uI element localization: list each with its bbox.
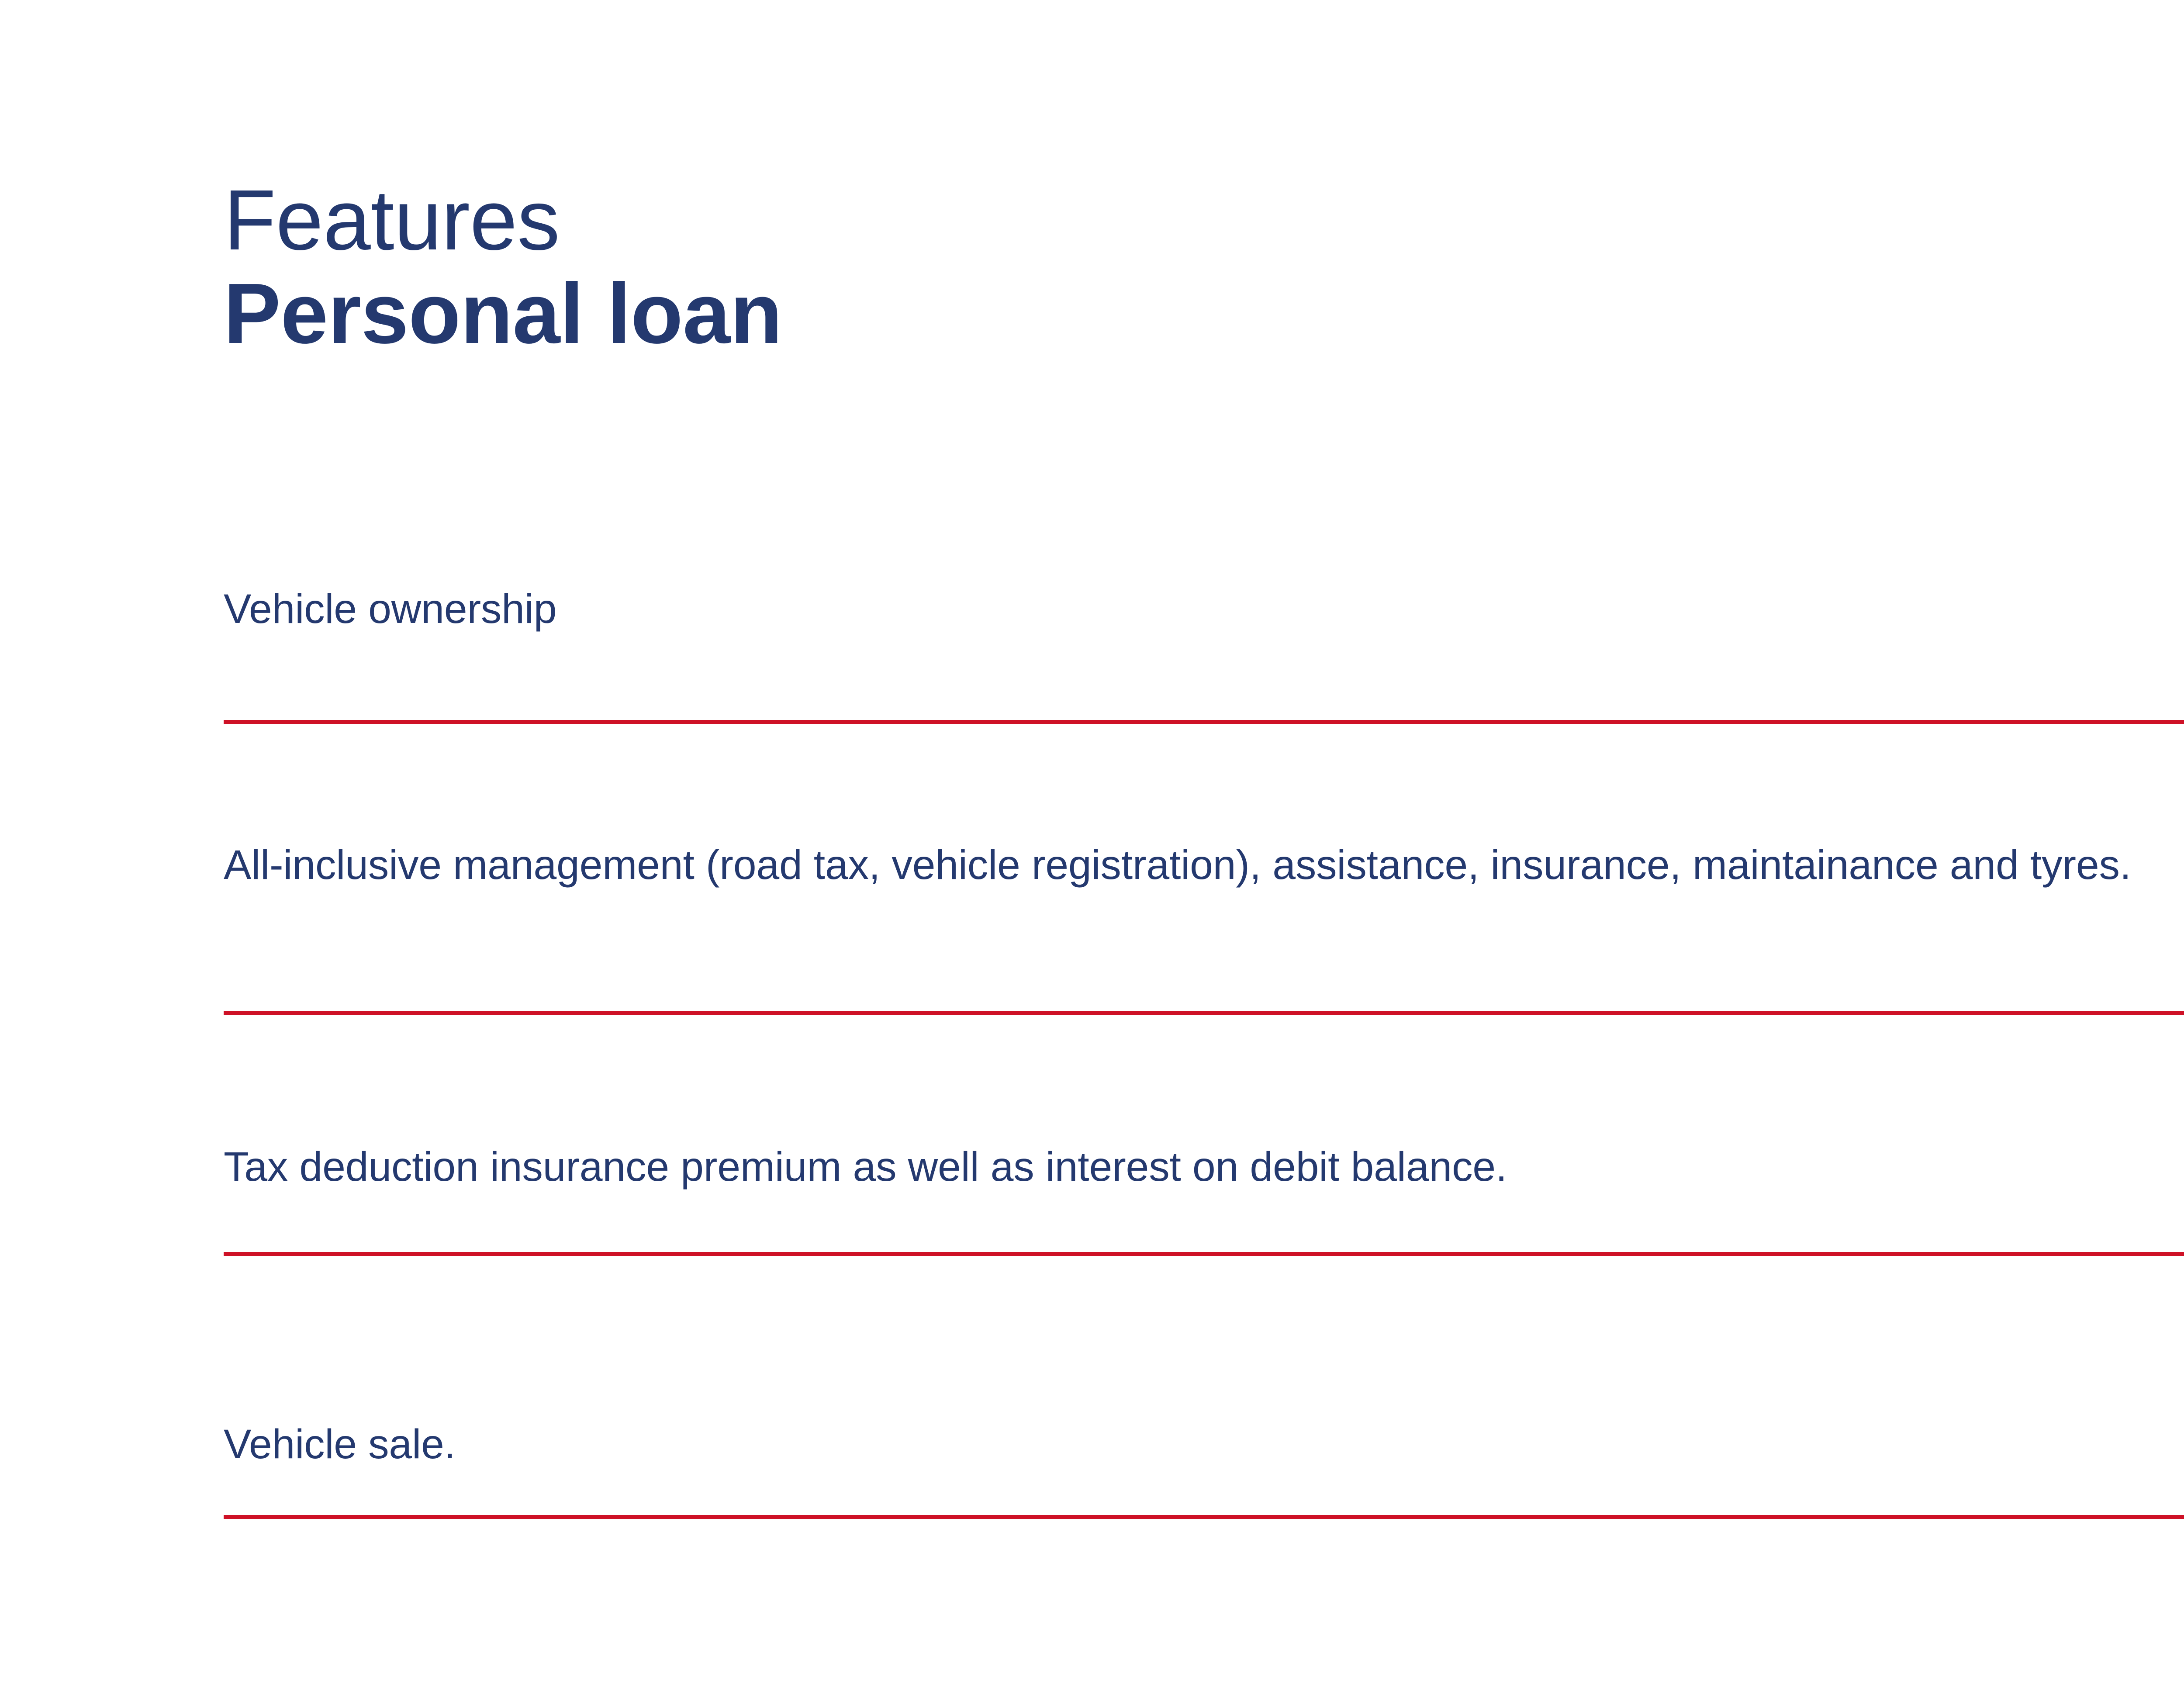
feature-label: Vehicle ownership [224,582,2184,637]
feature-row: Tax deduction insurance premium as well … [224,1105,2184,1256]
feature-row: Vehicle sale. [224,1366,2184,1519]
page-title-primary: Features [224,175,2058,266]
row-gap [224,1256,2184,1366]
feature-label: Tax deduction insurance premium as well … [224,1140,2184,1194]
feature-row: Vehicle ownership [224,570,2184,724]
row-gap [224,724,2184,796]
feature-label: All-inclusive management (road tax, vehi… [224,838,2184,893]
page-title-secondary: Personal loan [224,268,2058,359]
feature-comparison-slide: Features Personal loan Vehicle ownership… [0,0,2184,1702]
feature-label: Vehicle sale. [224,1418,2184,1472]
feature-row: All-inclusive management (road tax, vehi… [224,796,2184,1015]
row-gap [224,1015,2184,1105]
page-title: Features Personal loan [224,175,2058,359]
feature-list: Vehicle ownership All-inclusive manageme… [224,570,2184,1519]
